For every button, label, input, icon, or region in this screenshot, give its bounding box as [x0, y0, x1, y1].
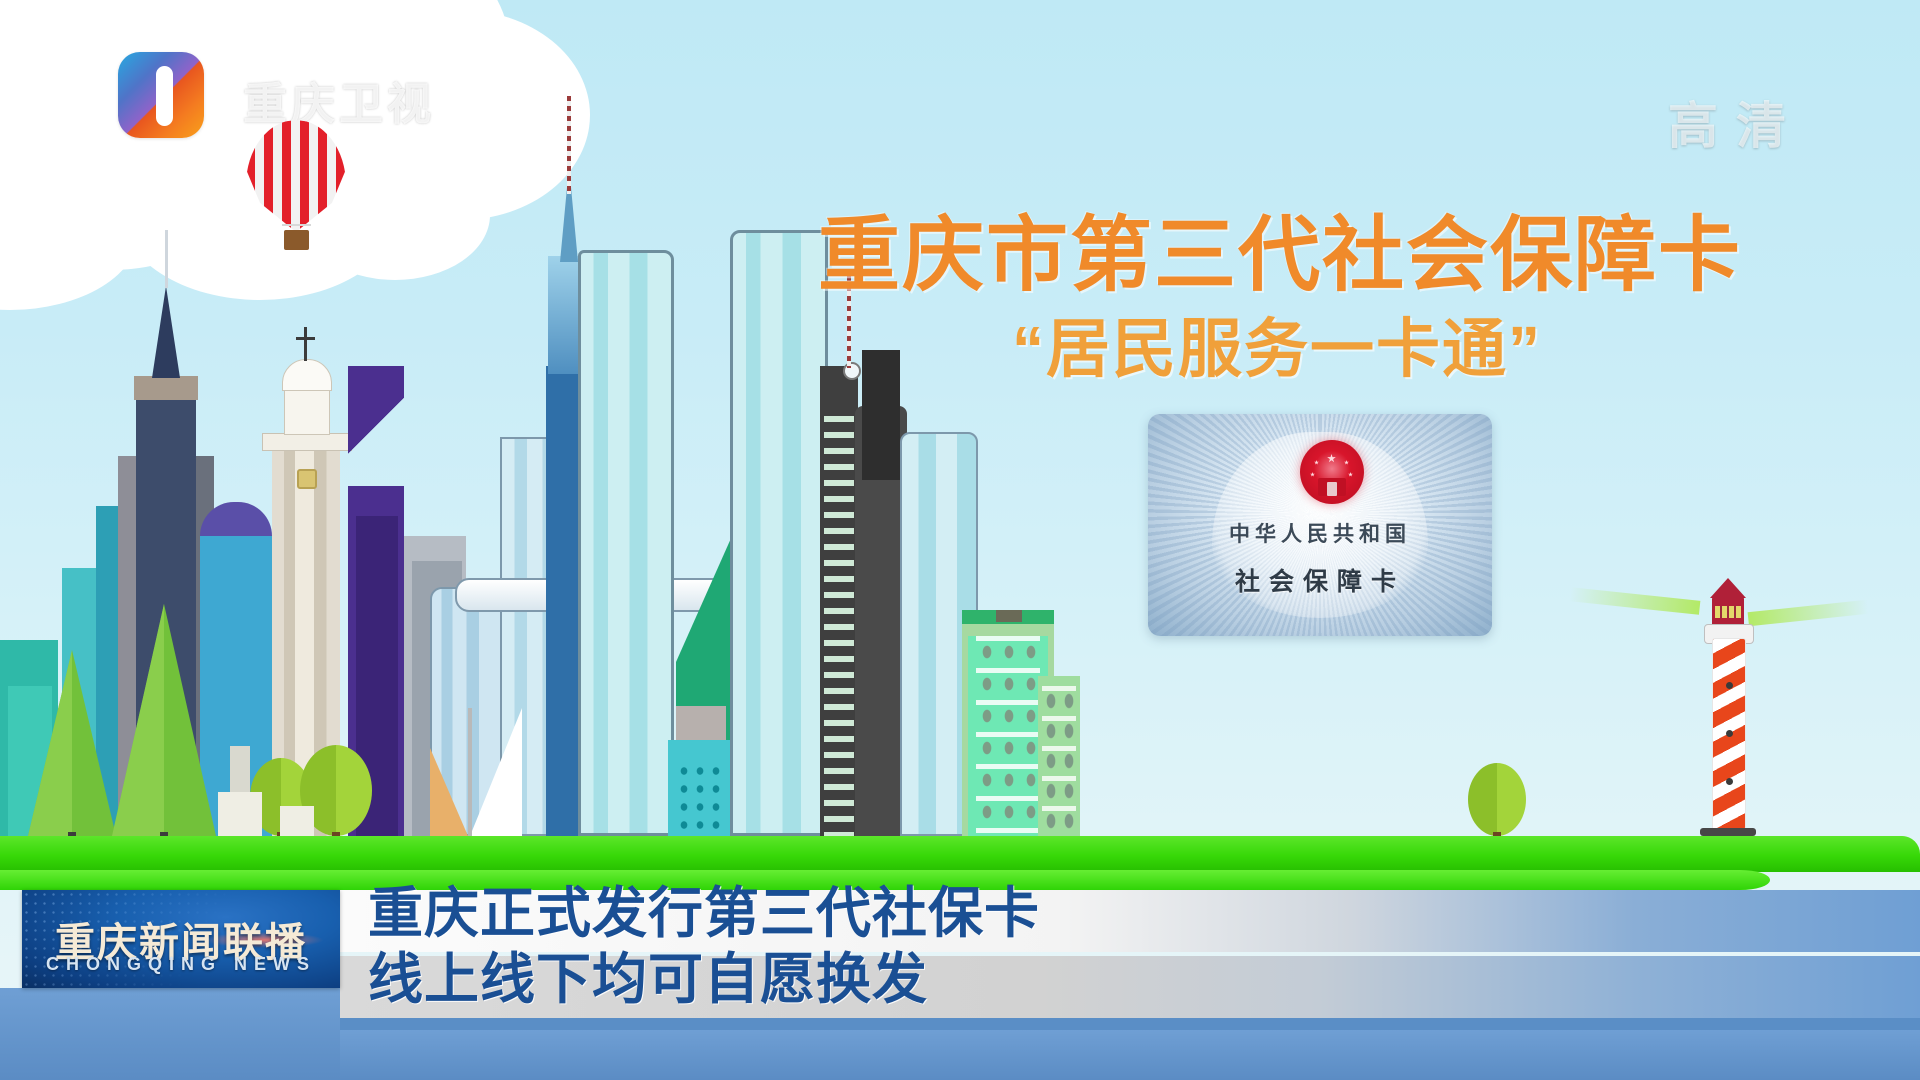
- program-logo-box: 重庆新闻联播 CHONGQING NEWS: [22, 890, 340, 988]
- lighthouse-icon: [1700, 588, 1754, 836]
- light-beam-icon: [1570, 587, 1701, 615]
- building-top: [548, 256, 578, 374]
- apartment-windows: [1042, 686, 1076, 836]
- card-country-label: 中华人民共和国: [1148, 518, 1492, 548]
- clock-face-icon: [297, 469, 317, 489]
- social-security-card-graphic: 中华人民共和国 社会保障卡: [1148, 414, 1492, 636]
- tower-knob-icon: [843, 362, 861, 380]
- cqtv-logo-icon: [118, 52, 204, 138]
- low-building: [280, 806, 314, 836]
- tree-icon: [1468, 763, 1526, 836]
- belfry: [284, 389, 330, 435]
- glass-tower: [578, 250, 674, 836]
- building-windows: [676, 762, 726, 836]
- china-national-emblem-icon: [1300, 440, 1364, 504]
- headline-band-edge: [340, 1018, 1920, 1030]
- sailboat-icon: [430, 706, 550, 836]
- low-building: [218, 792, 262, 836]
- apartment-windows: [976, 636, 1040, 836]
- tree-icon: [112, 604, 216, 836]
- glass-tower: [730, 230, 828, 836]
- graphic-main-title: 重庆市第三代社会保障卡: [818, 188, 1742, 307]
- building-panel: [862, 350, 900, 480]
- dome-icon: [282, 359, 332, 391]
- tower-ledge: [262, 433, 352, 451]
- tree-icon: [28, 650, 116, 836]
- building-cap: [134, 376, 198, 400]
- building-windows: [824, 416, 854, 836]
- light-beam-icon: [1748, 600, 1869, 626]
- lower-third-base-left: [0, 988, 340, 1080]
- program-name-en: CHONGQING NEWS: [22, 954, 340, 975]
- hd-watermark: 高清: [1668, 86, 1804, 158]
- building-slant: [348, 366, 404, 486]
- headline-line-2: 线上线下均可自愿换发: [368, 934, 928, 1014]
- ground-strip: [0, 836, 1920, 872]
- building: [546, 366, 580, 836]
- card-type-label: 社会保障卡: [1148, 562, 1492, 598]
- dome-spire-icon: [304, 327, 307, 361]
- cross-arm-icon: [296, 337, 315, 340]
- graphic-sub-title: “居民服务一卡通”: [1012, 298, 1542, 390]
- spire-icon: [152, 286, 180, 378]
- antenna-icon: [567, 96, 571, 194]
- antenna-icon: [165, 230, 168, 288]
- low-building: [230, 746, 250, 792]
- hot-air-balloon-icon: [246, 120, 346, 250]
- roof-unit: [996, 610, 1022, 622]
- broadcast-screen: 重庆卫视 高清 重庆市第三代社会保障卡 “居民服务一卡通” 中华人民共和国 社会…: [0, 0, 1920, 1080]
- ground-strip-right: [1640, 836, 1920, 872]
